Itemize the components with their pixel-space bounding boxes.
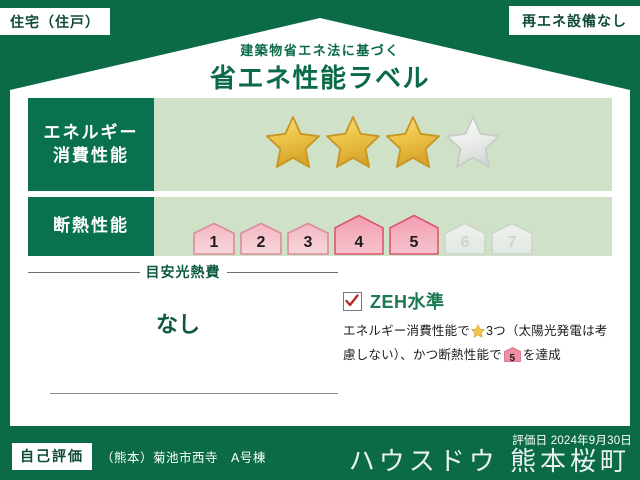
row-energy-body: [154, 98, 612, 191]
star-rating: [264, 114, 502, 175]
row-energy-label-line1: エネルギー: [44, 122, 139, 145]
inline-grade-number: 5: [504, 351, 521, 368]
insulation-grade-number: 6: [443, 234, 487, 252]
star-icon: [264, 114, 322, 175]
star-icon: [324, 114, 382, 175]
insulation-grade-7: 7: [490, 222, 534, 256]
insulation-grade-6: 6: [443, 222, 487, 256]
insulation-grade-number: 2: [239, 234, 283, 252]
row-insulation-body: 1234567: [154, 197, 612, 256]
insulation-grade-number: 5: [388, 234, 440, 252]
row-energy-label-line2: 消費性能: [53, 145, 129, 168]
heading-rule-right: [227, 272, 339, 273]
row-insulation-performance: 断熱性能 1234567: [28, 197, 612, 256]
insulation-grade-number: 1: [192, 234, 236, 252]
utility-cost-bottom-rule: [50, 393, 338, 394]
property-address: （熊本）菊池市西寺 A号棟: [101, 447, 266, 466]
star-icon: [444, 114, 502, 175]
utility-cost-title: 目安光熱費: [146, 262, 221, 282]
star-icon-inline: [471, 324, 485, 345]
insulation-grade-4: 4: [333, 214, 385, 256]
zeh-desc-part2: 3つ（太陽光発電: [486, 324, 582, 338]
energy-performance-label: 住宅（住戸） 再エネ設備なし 建築物省エネ法に基づく 省エネ性能ラベル エネルギ…: [0, 0, 640, 480]
utility-cost-heading: 目安光熱費: [28, 262, 338, 282]
tag-renewable-equipment-label: 再エネ設備なし: [522, 11, 627, 31]
insulation-grade-1: 1: [192, 222, 236, 256]
zeh-description: エネルギー消費性能で 3つ（太陽光発電は考慮しない）、かつ断熱性能で 5 を達成: [343, 321, 611, 368]
zeh-title: ZEH水準: [370, 288, 445, 314]
insulation-grade-2: 2: [239, 222, 283, 256]
row-energy-label: エネルギー 消費性能: [28, 98, 154, 191]
tag-dwelling-type: 住宅（住戸）: [0, 8, 110, 35]
row-insulation-label: 断熱性能: [28, 197, 154, 256]
heading-rule-left: [28, 272, 140, 273]
insulation-grade-number: 3: [286, 234, 330, 252]
page-title: 省エネ性能ラベル: [0, 58, 640, 95]
insulation-grade-number: 7: [490, 234, 534, 252]
tag-dwelling-type-label: 住宅（住戸）: [10, 12, 100, 32]
row-insulation-label-line1: 断熱性能: [53, 215, 129, 238]
insulation-grade-number: 4: [333, 234, 385, 252]
insulation-grade-scale: 1234567: [154, 197, 612, 256]
insulation-grade-3: 3: [286, 222, 330, 256]
evaluation-date: 評価日 2024年9月30日: [512, 432, 632, 448]
header-subtitle: 建築物省エネ法に基づく: [0, 40, 640, 59]
zeh-checkbox[interactable]: [343, 292, 362, 311]
check-icon: [345, 294, 359, 308]
lower-info-panel: 目安光熱費 なし ZEH水準 エネルギー消費性能で 3つ（太陽光発電は考慮しない…: [28, 262, 612, 410]
house-grade-icon-inline: 5: [504, 347, 521, 369]
zeh-desc-part4: を達成: [523, 348, 561, 362]
tag-renewable-equipment: 再エネ設備なし: [509, 6, 640, 35]
utility-cost-value: なし: [28, 307, 328, 339]
footer: 自己評価 （熊本）菊池市西寺 A号棟: [12, 443, 266, 470]
row-energy-performance: エネルギー 消費性能: [28, 98, 612, 191]
zeh-desc-part1: エネルギー消費性能で: [343, 324, 470, 338]
insulation-grade-5: 5: [388, 214, 440, 256]
self-evaluation-badge: 自己評価: [12, 443, 92, 470]
zeh-title-row: ZEH水準: [343, 288, 611, 314]
star-icon: [384, 114, 442, 175]
zeh-standard-block: ZEH水準 エネルギー消費性能で 3つ（太陽光発電は考慮しない）、かつ断熱性能で…: [343, 288, 611, 368]
